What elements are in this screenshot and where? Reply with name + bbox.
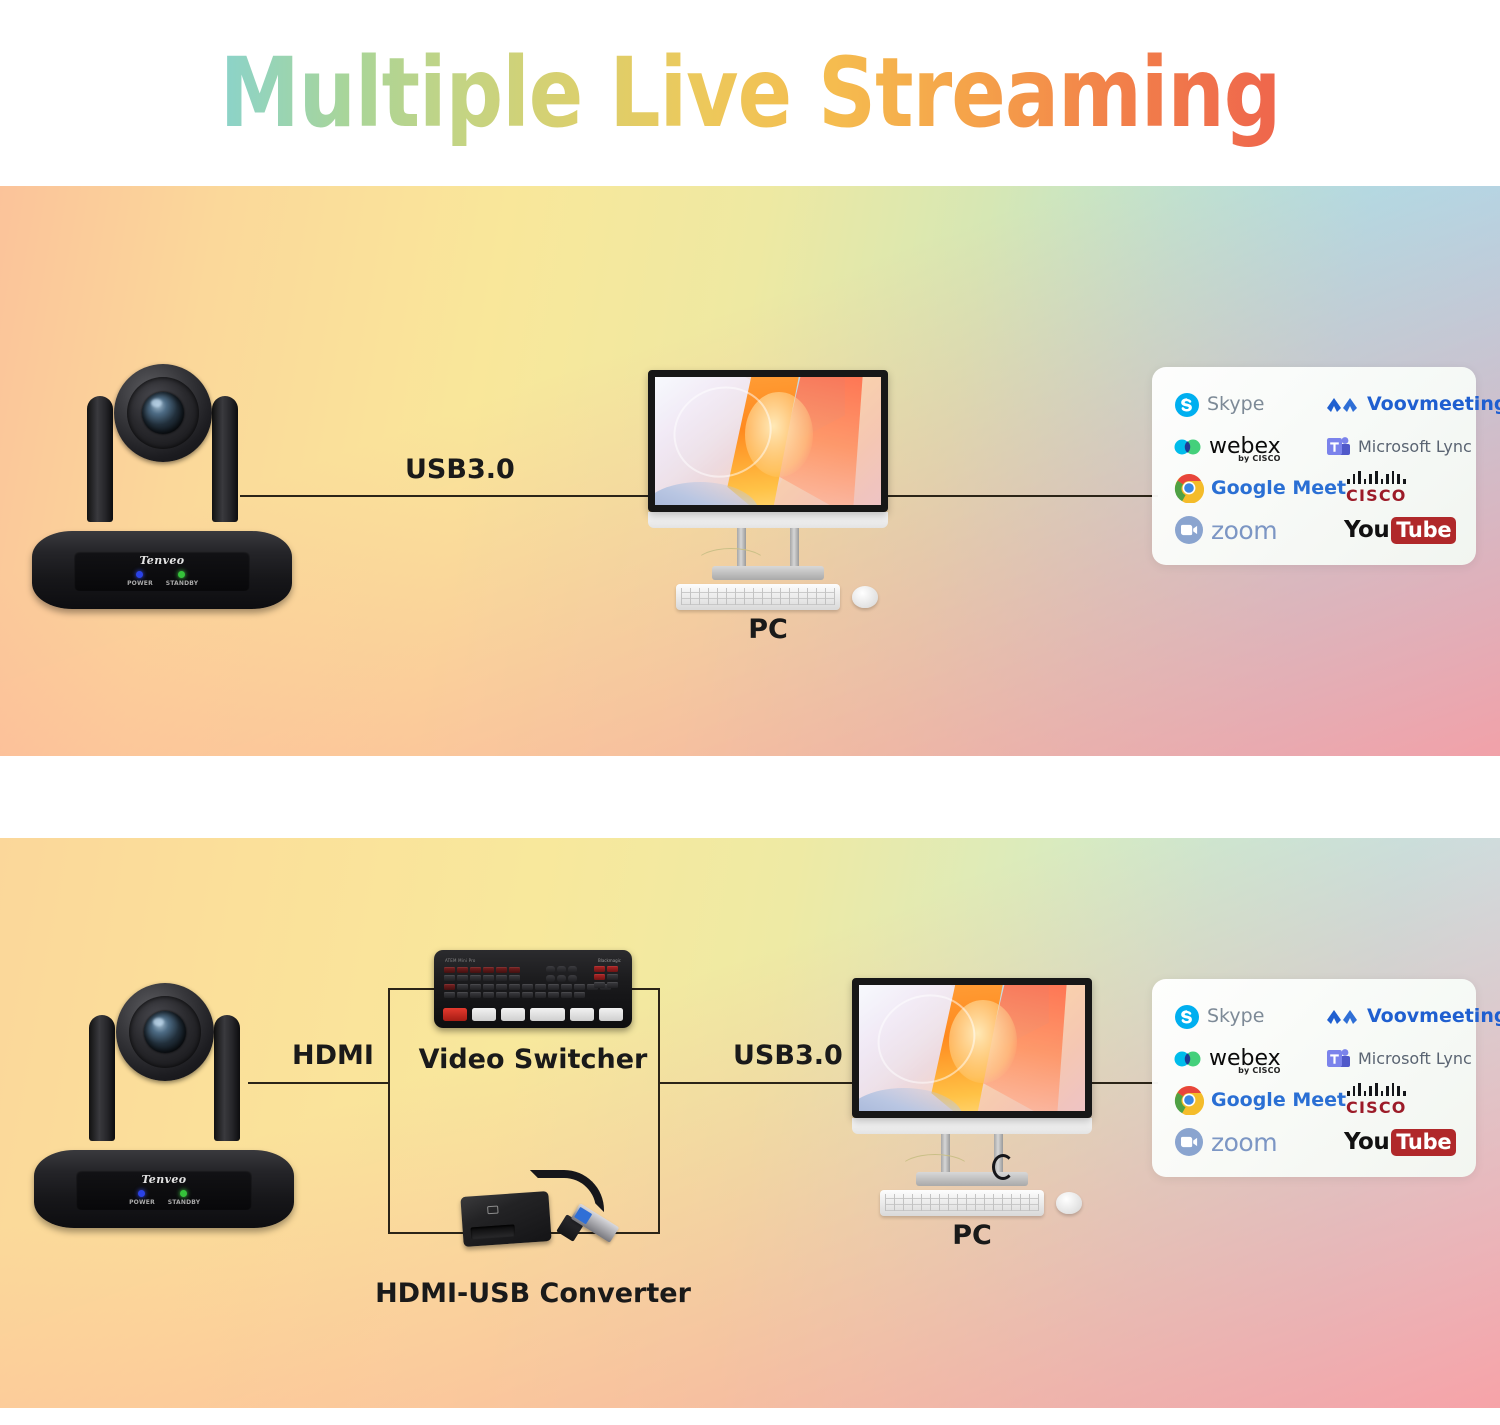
standby-led-icon-2: [180, 1190, 187, 1197]
zoom-icon: [1174, 515, 1204, 545]
switcher-brand2: Blackmagic: [598, 958, 621, 963]
chrome-icon: [1174, 473, 1204, 503]
camera-arm-left: [87, 396, 113, 522]
mouse-2: [1056, 1192, 1082, 1214]
switcher-keys-right: [594, 966, 628, 988]
monitor-chin: [648, 512, 888, 528]
cisco-icon-2: [1346, 1083, 1407, 1096]
ptz-camera-2: Tenveo POWER STANDBY: [34, 983, 294, 1228]
pc-workstation-2: PC: [852, 978, 1092, 1134]
desktop-wallpaper-2: [859, 985, 1085, 1111]
camera-front-panel: Tenveo POWER STANDBY: [74, 551, 250, 591]
camera-arm-right: [212, 396, 238, 522]
desk-cable: [694, 548, 768, 582]
cisco-icon: [1346, 471, 1407, 484]
switcher-brand: ATEM Mini Pro: [445, 958, 476, 963]
logo-zoom-label-2: zoom: [1211, 1130, 1277, 1155]
power-led-icon-2: [138, 1190, 145, 1197]
switcher-pads-center: [546, 966, 586, 982]
logo-cisco: CISCO: [1326, 471, 1476, 505]
switcher-output-buttons: [541, 1008, 623, 1021]
wire-branch-right: [658, 988, 660, 1234]
platform-logo-panel: Skype Voovmeeting webexby CISCO: [1152, 367, 1476, 565]
wire-pc-to-platforms-2: [1092, 1082, 1158, 1084]
logo-cisco-label-2: CISCO: [1346, 1098, 1407, 1117]
usb-cable-loop: [992, 1154, 1014, 1180]
keyboard: [676, 584, 840, 610]
camera-head: [114, 364, 212, 462]
desktop-wallpaper: [655, 377, 881, 505]
camera-brand: Tenveo: [74, 554, 250, 567]
monitor-screen-2: [852, 978, 1092, 1118]
zoom-icon-2: [1174, 1127, 1204, 1157]
logo-webex-sub: by CISCO: [1238, 455, 1281, 463]
logo-youtube-tube: Tube: [1391, 517, 1456, 544]
wire-branch-to-pc: [658, 1082, 856, 1084]
wire-camera-to-pc: [240, 495, 660, 497]
wire-branch-left: [388, 988, 390, 1234]
logo-google-meet: Google Meet: [1174, 473, 1326, 503]
voovmeeting-icon-2: [1326, 1006, 1360, 1028]
webex-icon-2: [1174, 1048, 1202, 1070]
logo-youtube-tube-2: Tube: [1391, 1129, 1456, 1156]
microsoft-teams-icon-2: [1326, 1047, 1351, 1071]
logo-microsoft-lync-label-2: Microsoft Lync: [1358, 1051, 1472, 1067]
logo-youtube-you: You: [1344, 517, 1389, 543]
pc-label-2: PC: [852, 1220, 1092, 1251]
logo-skype-2: Skype: [1174, 1004, 1326, 1030]
microsoft-teams-icon: [1326, 435, 1351, 459]
hdmi-port: [471, 1224, 516, 1239]
streaming-solutions-infographic: Multiple Live Streaming Solutions USB3.0…: [0, 0, 1500, 1425]
logo-microsoft-lync: Microsoft Lync: [1326, 435, 1476, 459]
diagram-usb-direct: USB3.0 Tenveo POWER STANDBY: [0, 186, 1500, 756]
logo-skype: Skype: [1174, 392, 1326, 418]
camera-front-panel-2: Tenveo POWER STANDBY: [76, 1170, 252, 1210]
logo-youtube-you-2: You: [1344, 1129, 1389, 1155]
logo-voovmeeting-label: Voovmeeting: [1367, 395, 1500, 414]
label-hdmi: HDMI: [292, 1040, 374, 1071]
label-usb3-camera-pc: USB3.0: [405, 454, 515, 485]
logo-microsoft-lync-label: Microsoft Lync: [1358, 439, 1472, 455]
platform-logo-panel-2: Skype Voovmeeting webexby CISCO: [1152, 979, 1476, 1177]
power-led-label: POWER: [124, 580, 156, 587]
hdmi-usb-converter-label: HDMI-USB Converter: [340, 1278, 726, 1309]
logo-youtube-2: You Tube: [1326, 1129, 1476, 1156]
logo-skype-label: Skype: [1207, 395, 1264, 414]
logo-webex-label-2: webexby CISCO: [1209, 1048, 1281, 1070]
hdmi-port-icon: [487, 1206, 499, 1215]
wire-pc-to-platforms: [888, 495, 1158, 497]
camera-lens-icon: [142, 392, 184, 434]
keyboard-2: [880, 1190, 1044, 1216]
standby-led-label: STANDBY: [164, 580, 200, 587]
mouse: [852, 586, 878, 608]
logo-webex-sub-2: by CISCO: [1238, 1067, 1281, 1075]
voovmeeting-icon: [1326, 394, 1360, 416]
logo-cisco-2: CISCO: [1326, 1083, 1476, 1117]
logo-webex-2: webexby CISCO: [1174, 1048, 1326, 1070]
desk-cable-2: [898, 1154, 972, 1188]
page-title: Multiple Live Streaming Solutions: [53, 38, 1448, 148]
switcher-source-buttons: [443, 1008, 554, 1021]
pc-label: PC: [648, 614, 888, 645]
logo-google-meet-2: Google Meet: [1174, 1085, 1326, 1115]
logo-voovmeeting-2: Voovmeeting: [1326, 1006, 1476, 1028]
video-switcher-label: Video Switcher: [370, 1044, 696, 1075]
switcher-keys-left: [444, 967, 532, 981]
logo-voovmeeting-label-2: Voovmeeting: [1367, 1007, 1500, 1026]
logo-zoom: zoom: [1174, 515, 1326, 545]
camera-brand-2: Tenveo: [76, 1173, 252, 1186]
logo-skype-label-2: Skype: [1207, 1007, 1264, 1026]
label-usb3-switcher-pc: USB3.0: [733, 1040, 843, 1071]
logo-voovmeeting: Voovmeeting: [1326, 394, 1476, 416]
camera-arm-right-2: [214, 1015, 240, 1141]
logo-webex: webexby CISCO: [1174, 436, 1326, 458]
chrome-icon-2: [1174, 1085, 1204, 1115]
video-switcher: ATEM Mini Pro Blackmagic: [434, 950, 632, 1028]
diagram-hdmi-switcher: HDMI USB3.0 Tenveo POWER: [0, 838, 1500, 1408]
hdmi-usb-converter: [462, 1174, 622, 1256]
pc-workstation: PC: [648, 370, 888, 528]
standby-led-icon: [178, 571, 185, 578]
camera-lens-icon-2: [144, 1011, 186, 1053]
skype-icon-2: [1174, 1004, 1200, 1030]
monitor-screen: [648, 370, 888, 512]
camera-head-2: [116, 983, 214, 1081]
standby-led-label-2: STANDBY: [166, 1199, 202, 1206]
monitor-chin-2: [852, 1118, 1092, 1134]
logo-zoom-label: zoom: [1211, 518, 1277, 543]
logo-youtube: You Tube: [1326, 517, 1476, 544]
logo-zoom-2: zoom: [1174, 1127, 1326, 1157]
logo-webex-label: webexby CISCO: [1209, 436, 1281, 458]
youtube-icon: You Tube: [1344, 517, 1456, 544]
logo-microsoft-lync-2: Microsoft Lync: [1326, 1047, 1476, 1071]
webex-icon: [1174, 436, 1202, 458]
logo-cisco-label: CISCO: [1346, 486, 1407, 505]
power-led-label-2: POWER: [126, 1199, 158, 1206]
ptz-camera: Tenveo POWER STANDBY: [32, 364, 292, 609]
camera-base-2: Tenveo POWER STANDBY: [34, 1150, 294, 1228]
power-led-icon: [136, 571, 143, 578]
converter-cable: [530, 1170, 604, 1212]
camera-arm-left-2: [89, 1015, 115, 1141]
camera-base: Tenveo POWER STANDBY: [32, 531, 292, 609]
youtube-icon-2: You Tube: [1344, 1129, 1456, 1156]
skype-icon: [1174, 392, 1200, 418]
